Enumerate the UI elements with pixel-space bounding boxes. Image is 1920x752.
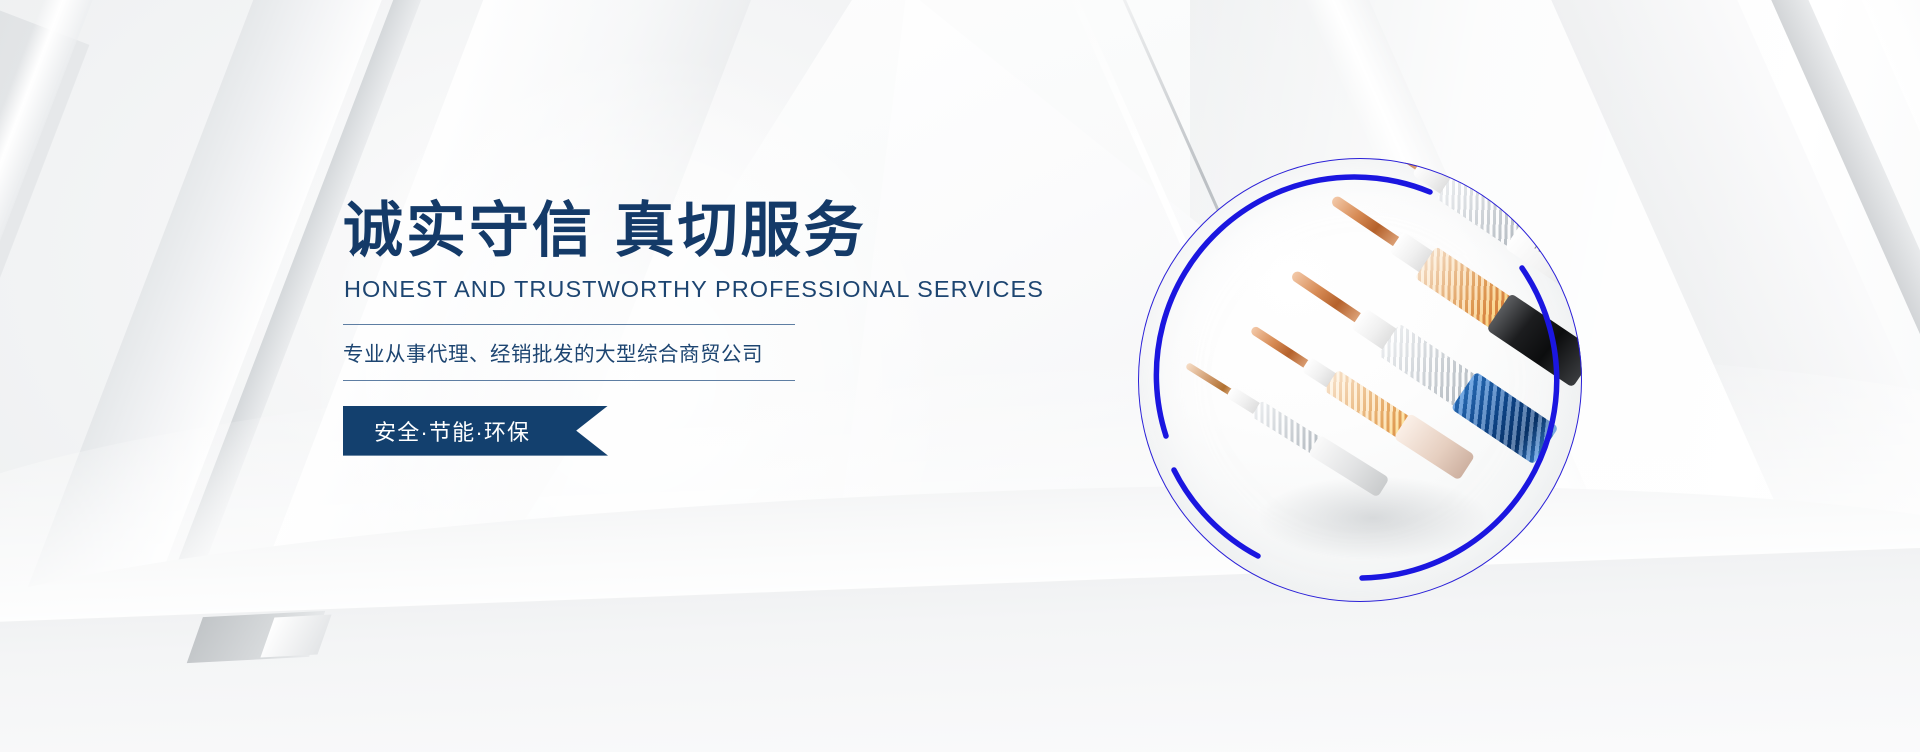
hero-description-rule: 专业从事代理、经销批发的大型综合商贸公司 [343,324,795,381]
cable-black-jacket-sheath [1486,293,1582,388]
product-photo: RG6 [1138,158,1582,602]
hero-headline: 诚实守信 真切服务 [343,196,903,266]
product-circle: RG6 [1130,150,1590,610]
hero-feature-ribbon: 安全·节能·环保 [343,406,608,456]
hero-feature-ribbon-label: 安全·节能·环保 [343,415,530,447]
hero-description: 专业从事代理、经销批发的大型综合商贸公司 [343,337,795,367]
cable-thin-silver-jacket [1308,435,1390,498]
hero-tagline: HONEST AND TRUSTWORTHY PROFESSIONAL SERV… [344,276,903,303]
hero-text-block: 诚实守信 真切服务 HONEST AND TRUSTWORTHY PROFESS… [343,196,903,456]
hero-banner: 诚实守信 真切服务 HONEST AND TRUSTWORTHY PROFESS… [0,0,1920,752]
